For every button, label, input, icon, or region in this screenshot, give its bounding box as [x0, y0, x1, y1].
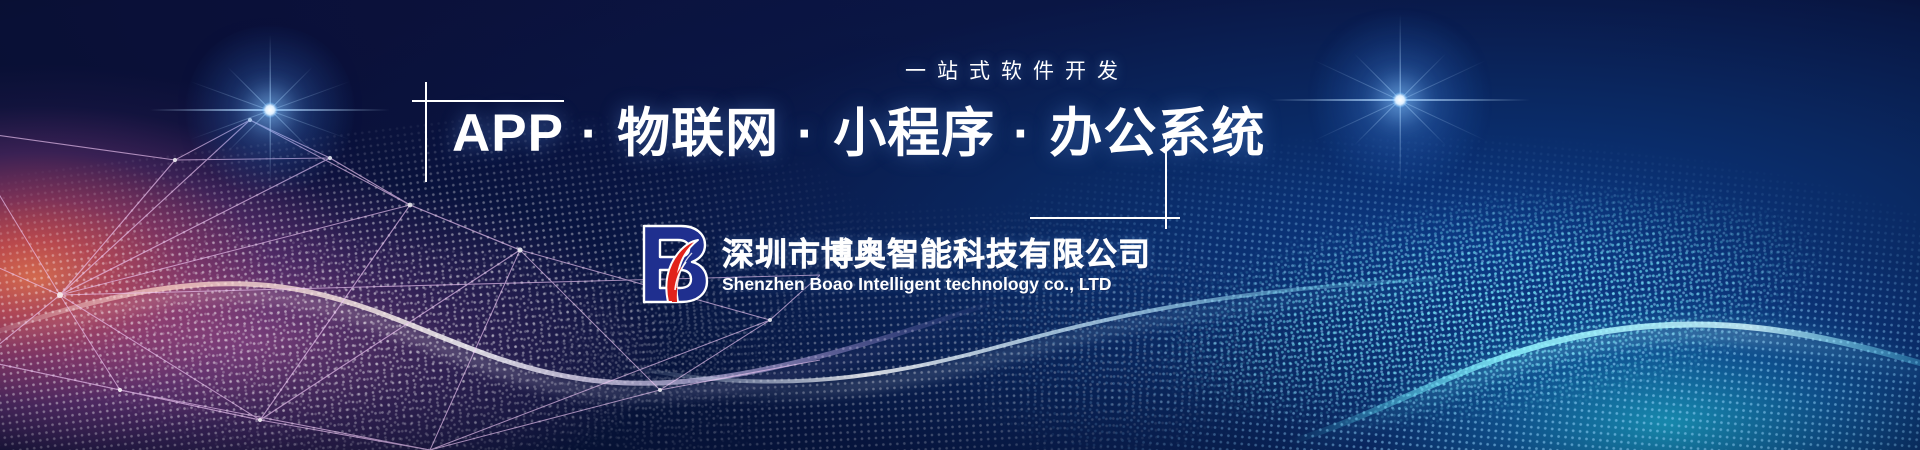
banner-tagline: 一站式软件开发	[905, 55, 1129, 85]
promo-banner: 一站式软件开发 APP · 物联网 · 小程序 · 办公系统	[0, 0, 1920, 450]
company-name-block: 深圳市博奥智能科技有限公司 Shenzhen Boao Intelligent …	[722, 233, 1151, 296]
company-lockup: 深圳市博奥智能科技有限公司 Shenzhen Boao Intelligent …	[634, 222, 1151, 306]
banner-headline: APP · 物联网 · 小程序 · 办公系统	[452, 107, 1265, 160]
bracket-horizontal-rule	[412, 100, 564, 102]
boao-b-logo-icon	[634, 222, 712, 306]
headline-separator: ·	[795, 104, 818, 163]
company-name-chinese: 深圳市博奥智能科技有限公司	[722, 237, 1151, 273]
banner-content: 一站式软件开发 APP · 物联网 · 小程序 · 办公系统	[0, 0, 1920, 450]
headline-part-office: 办公系统	[1049, 104, 1265, 163]
headline-part-miniapp: 小程序	[833, 104, 995, 163]
headline-separator: ·	[579, 104, 602, 163]
headline-part-iot: 物联网	[617, 104, 779, 163]
headline-part-app: APP	[452, 104, 563, 163]
company-name-english: Shenzhen Boao Intelligent technology co.…	[722, 274, 1151, 295]
headline-separator: ·	[1011, 104, 1034, 163]
bracket-vertical-rule	[425, 82, 427, 182]
bracket-horizontal-rule	[1030, 217, 1180, 219]
